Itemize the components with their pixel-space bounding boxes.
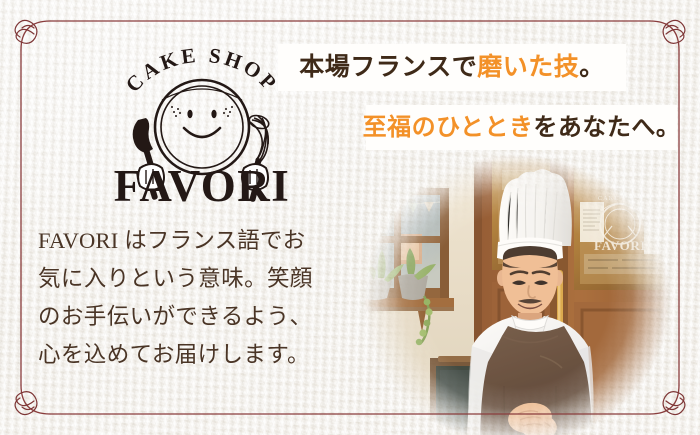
chef-photo-vignette-mask: CAKE SHOP FAVORI — [352, 150, 682, 435]
body-line-3: のお手伝いができるよう、 — [38, 298, 348, 336]
smiley-face — [171, 106, 233, 137]
headline-banner-1: 本場フランスで磨いた技。 — [278, 44, 626, 91]
headline-2-dark-after: をあなたへ。 — [533, 114, 680, 141]
headline-line-1: 本場フランスで磨いた技。 — [299, 55, 605, 80]
favori-wordmark-text: FAVORI — [114, 161, 290, 211]
body-line-4: 心を込めてお届けします。 — [38, 336, 348, 374]
chef-photo: CAKE SHOP FAVORI — [352, 150, 682, 435]
headline-2-accent: 至福のひととき — [363, 114, 534, 141]
body-paragraph: FAVORI はフランス語でお 気に入りという意味。笑顔 のお手伝いができるよう… — [38, 222, 348, 374]
headline-1-dark-after: 。 — [579, 53, 605, 81]
favori-wordmark: FAVORI — [96, 160, 308, 212]
favori-shop-banner: CAKE SHOP FAVORI — [0, 0, 700, 435]
headline-1-dark-before: 本場フランスで — [299, 53, 477, 81]
body-line-2: 気に入りという意味。笑顔 — [38, 260, 348, 298]
headline-1-accent: 磨いた技 — [477, 53, 579, 81]
headline-line-2: 至福のひとときをあなたへ。 — [363, 116, 681, 140]
headline-banner-2: 至福のひとときをあなたへ。 — [366, 105, 677, 150]
chef-photo-illustration: CAKE SHOP FAVORI — [352, 150, 682, 435]
body-line-1: FAVORI はフランス語でお — [38, 222, 348, 260]
